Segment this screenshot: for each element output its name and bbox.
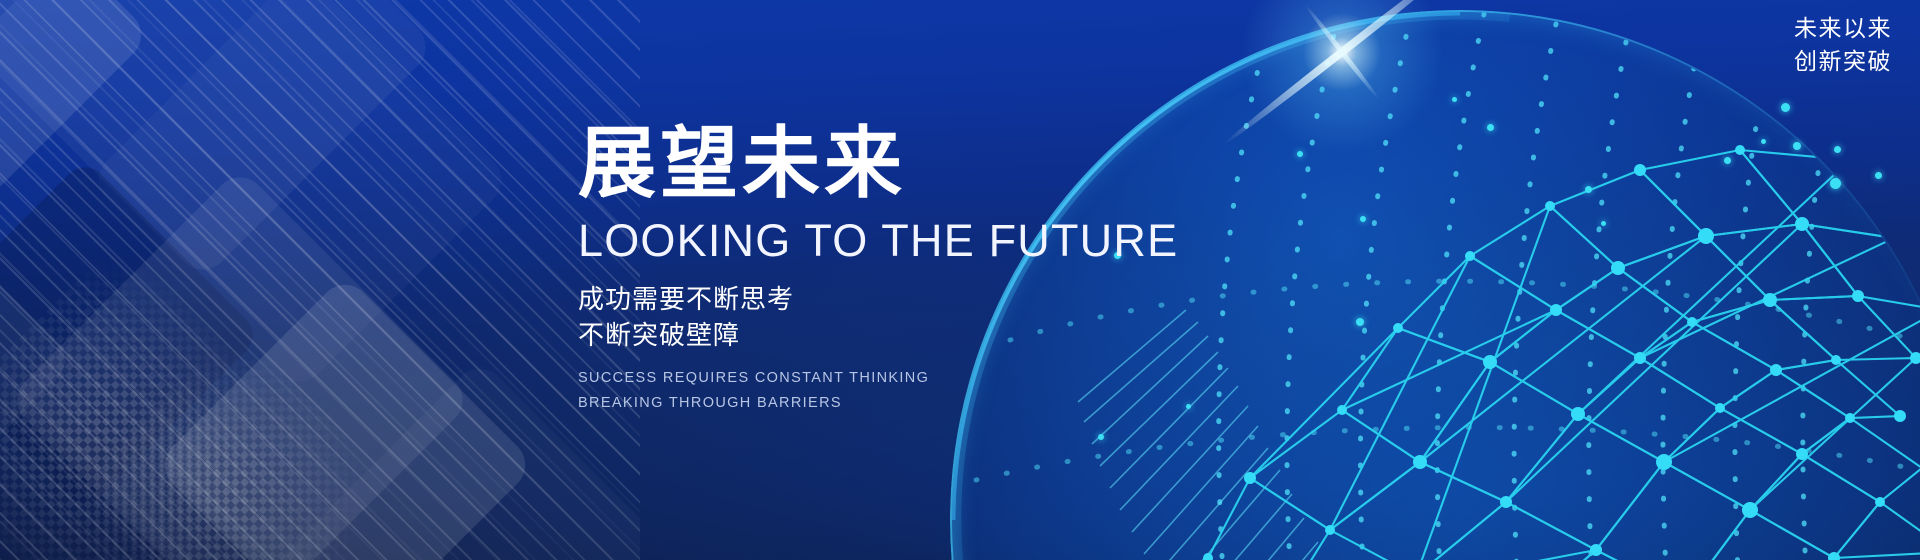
- dot: [1793, 142, 1801, 150]
- diagonal-stripes: [0, 0, 640, 560]
- diamond-shape: [0, 204, 76, 515]
- diamond-shape: [7, 167, 474, 560]
- light-flare-icon: [1227, 0, 1457, 167]
- subtitle-cn-line-1: 成功需要不断思考: [578, 282, 1098, 318]
- dot: [1186, 404, 1191, 409]
- page-title-english: LOOKING TO THE FUTURE: [578, 218, 1098, 263]
- left-geometric-art: [0, 0, 640, 560]
- corner-tagline: 未来以来 创新突破: [1794, 12, 1892, 77]
- light-flare-streak: [1303, 3, 1381, 101]
- dot: [1098, 434, 1104, 440]
- diagonal-stripes: [0, 0, 640, 560]
- subtitle-en-line-2: BREAKING THROUGH BARRIERS: [578, 391, 1098, 416]
- subtitle-en-line-1: SUCCESS REQUIRES CONSTANT THINKING: [578, 366, 1098, 391]
- light-flare-streak: [1221, 0, 1462, 148]
- diamond-shape: [0, 158, 262, 512]
- diamond-shape: [88, 0, 512, 392]
- dot: [1875, 172, 1882, 179]
- checker-dot-grid: [0, 238, 332, 560]
- dot: [1830, 178, 1841, 189]
- dot: [1834, 146, 1841, 153]
- dot: [1356, 318, 1364, 326]
- diamond-shape: [154, 274, 536, 560]
- page-title: 展望未来: [578, 124, 1098, 202]
- dot: [1781, 103, 1790, 112]
- corner-tagline-line-2: 创新突破: [1794, 45, 1892, 78]
- dot: [1761, 139, 1766, 144]
- subtitle-cn-line-2: 不断突破壁障: [578, 318, 1098, 354]
- dot: [1585, 186, 1592, 193]
- dot: [1452, 97, 1457, 102]
- headline-block: 展望未来 LOOKING TO THE FUTURE 成功需要不断思考 不断突破…: [578, 124, 1098, 416]
- diamond-shape: [0, 0, 152, 212]
- dot: [1601, 221, 1606, 226]
- dot: [1724, 157, 1731, 164]
- dot: [1487, 124, 1494, 131]
- diamond-shape: [0, 0, 436, 280]
- dot: [1297, 151, 1303, 157]
- dot: [1360, 216, 1366, 222]
- hero-banner: 展望未来 LOOKING TO THE FUTURE 成功需要不断思考 不断突破…: [0, 0, 1920, 560]
- corner-tagline-line-1: 未来以来: [1794, 12, 1892, 45]
- checker-dot-grid: [56, 326, 424, 560]
